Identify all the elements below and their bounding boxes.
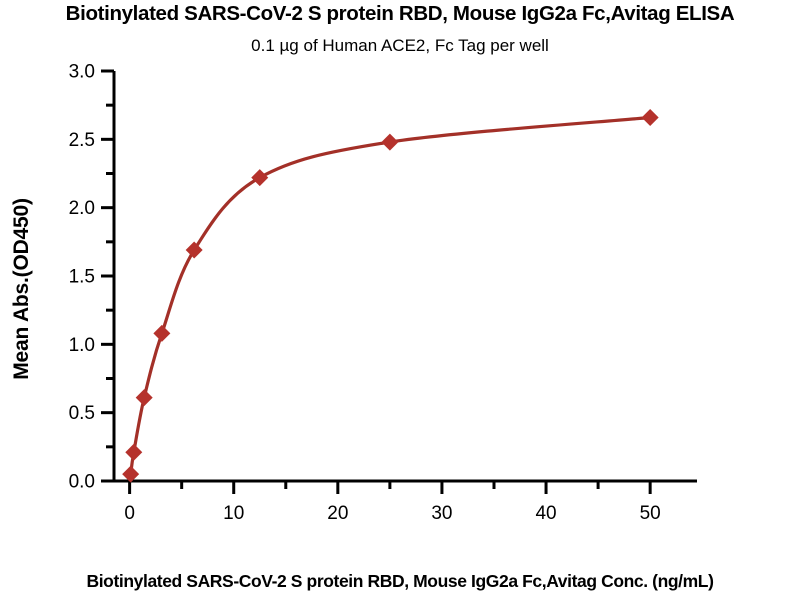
x-axis-ticks: 01020304050	[124, 481, 660, 524]
data-point-marker	[642, 109, 659, 126]
y-tick-label: 1.5	[69, 267, 95, 288]
x-tick-label: 40	[535, 503, 556, 524]
data-point-marker	[251, 169, 268, 186]
chart-figure: Biotinylated SARS-CoV-2 S protein RBD, M…	[0, 0, 800, 600]
y-tick-label: 1.0	[69, 335, 95, 356]
plot-area: 0.00.51.01.52.02.53.0 01020304050	[0, 0, 800, 600]
x-tick-label: 10	[223, 503, 244, 524]
y-tick-label: 2.5	[69, 130, 95, 151]
data-markers	[122, 109, 658, 483]
y-axis-ticks: 0.00.51.01.52.02.53.0	[69, 62, 114, 493]
y-tick-label: 2.0	[69, 198, 95, 219]
y-tick-label: 0.0	[69, 472, 95, 493]
x-tick-label: 0	[124, 503, 135, 524]
x-tick-label: 20	[327, 503, 348, 524]
fit-curve	[131, 117, 650, 474]
y-tick-label: 3.0	[69, 62, 95, 83]
data-point-marker	[125, 444, 142, 461]
data-point-marker	[381, 134, 398, 151]
data-point-marker	[186, 242, 203, 259]
x-tick-label: 30	[431, 503, 452, 524]
x-tick-label: 50	[640, 503, 661, 524]
data-point-marker	[136, 389, 153, 406]
data-point-marker	[153, 325, 170, 342]
y-tick-label: 0.5	[69, 403, 95, 424]
